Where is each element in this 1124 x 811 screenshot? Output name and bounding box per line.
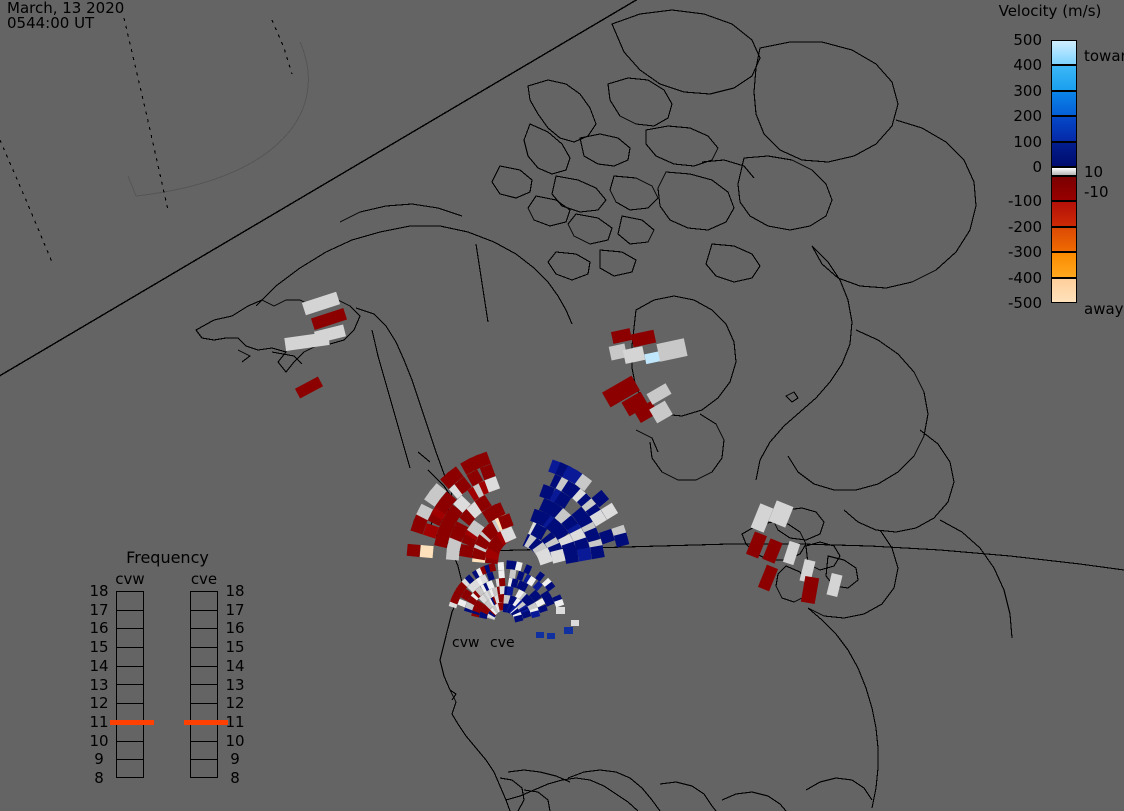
velocity-tick-0: 0 (1032, 158, 1042, 176)
velocity-colorbar (1051, 40, 1077, 310)
frequency-bar-cvw (116, 591, 144, 778)
radar-cell (533, 581, 543, 591)
radar-cell (577, 547, 592, 561)
velocity-tick--100: -100 (1008, 192, 1042, 210)
radar-cell (499, 578, 506, 586)
velocity-band-1 (1051, 65, 1077, 90)
radar-cell (827, 573, 843, 597)
radar-cell (631, 330, 656, 347)
radar-cell (536, 632, 544, 638)
radar-cell (611, 328, 632, 344)
velocity-tick--300: -300 (1008, 243, 1042, 261)
velocity-tick-100: 100 (1013, 133, 1042, 151)
frequency-segment (117, 686, 143, 705)
frequency-legend-title: Frequency (80, 548, 255, 567)
frequency-tick-cve-18: 18 (222, 582, 248, 600)
frequency-tick-cve-8: 8 (222, 769, 248, 787)
velocity-tick-500: 500 (1013, 31, 1042, 49)
radar-cell (758, 565, 778, 592)
frequency-segment (191, 742, 217, 761)
radar-cell (769, 500, 794, 527)
frequency-tick-cve-15: 15 (222, 638, 248, 656)
frequency-marker-cvw (110, 720, 154, 725)
frequency-segment (117, 742, 143, 761)
radar-cell (295, 377, 323, 399)
frequency-segment (117, 611, 143, 630)
frequency-segment (117, 760, 143, 779)
frequency-segment (117, 667, 143, 686)
velocity-minus10-label: -10 (1084, 183, 1109, 201)
frequency-legend: Frequency cvw cve 1818171716161515141413… (80, 545, 255, 785)
frequency-tick-cvw-11: 11 (86, 713, 112, 731)
radar-cell (564, 550, 579, 564)
velocity-tick-400: 400 (1013, 56, 1042, 74)
velocity-band-3 (1051, 116, 1077, 141)
frequency-segment (191, 648, 217, 667)
frequency-marker-cve (184, 720, 228, 725)
frequency-tick-cve-13: 13 (222, 676, 248, 694)
frequency-segment (191, 667, 217, 686)
frequency-segment (117, 723, 143, 742)
frequency-tick-cvw-9: 9 (86, 750, 112, 768)
frequency-tick-cvw-12: 12 (86, 694, 112, 712)
radar-cell (556, 607, 565, 614)
site-label-cvw: cvw (452, 635, 479, 651)
radar-cell (623, 346, 645, 364)
frequency-tick-cvw-16: 16 (86, 619, 112, 637)
frequency-tick-cve-16: 16 (222, 619, 248, 637)
velocity-band-4 (1051, 142, 1077, 167)
frequency-tick-cvw-8: 8 (86, 769, 112, 787)
radar-cell (746, 531, 767, 558)
radar-cell (498, 562, 505, 570)
frequency-tick-cve-14: 14 (222, 657, 248, 675)
velocity-band-7 (1051, 201, 1077, 226)
frequency-segment (191, 592, 217, 611)
radar-cell (783, 541, 800, 565)
velocity-tick-200: 200 (1013, 107, 1042, 125)
velocity-away-label: away (1084, 300, 1124, 318)
frequency-bar-cve (190, 591, 218, 778)
velocity-band-5 (1051, 167, 1077, 176)
frequency-segment (191, 723, 217, 742)
velocity-toward-label: toward (1084, 47, 1124, 65)
radar-cell (535, 571, 545, 581)
frequency-tick-cvw-10: 10 (86, 732, 112, 750)
radar-cell (420, 545, 434, 558)
radar-cell (656, 338, 687, 361)
site-label-cve: cve (490, 635, 515, 651)
frequency-tick-cve-10: 10 (222, 732, 248, 750)
velocity-tick--500: -500 (1008, 294, 1042, 312)
velocity-plus10-label: 10 (1084, 163, 1103, 181)
radar-cell (571, 620, 579, 626)
radar-cell (590, 545, 605, 559)
superdarn-velocity-map: March, 13 20200544:00 UT Velocity (m/s) … (0, 0, 1124, 811)
frequency-segment (117, 592, 143, 611)
timestamp-time: 0544:00 UT (7, 14, 94, 32)
frequency-segment (117, 629, 143, 648)
frequency-tick-cvw-13: 13 (86, 676, 112, 694)
velocity-tick--400: -400 (1008, 269, 1042, 287)
frequency-tick-cvw-18: 18 (86, 582, 112, 600)
frequency-tick-cve-12: 12 (222, 694, 248, 712)
velocity-band-2 (1051, 91, 1077, 116)
timestamp: March, 13 20200544:00 UT (7, 1, 124, 31)
frequency-tick-cvw-17: 17 (86, 601, 112, 619)
velocity-band-10 (1051, 278, 1077, 303)
frequency-segment (191, 760, 217, 779)
velocity-band-6 (1051, 176, 1077, 201)
frequency-segment (191, 629, 217, 648)
radar-cell (498, 570, 505, 578)
velocity-colorbar-ticks: 5004003002001000-100-200-300-400-500 (960, 0, 1046, 330)
radar-cell (564, 627, 573, 634)
frequency-tick-cvw-14: 14 (86, 657, 112, 675)
velocity-band-9 (1051, 252, 1077, 277)
radar-cell (487, 572, 495, 581)
frequency-tick-cvw-15: 15 (86, 638, 112, 656)
velocity-tick-300: 300 (1013, 82, 1042, 100)
frequency-segment (117, 648, 143, 667)
frequency-tick-cve-9: 9 (222, 750, 248, 768)
velocity-tick--200: -200 (1008, 218, 1042, 236)
radar-cell (407, 544, 421, 557)
frequency-segment (191, 686, 217, 705)
radar-cell (516, 571, 524, 581)
radar-cell (547, 633, 555, 639)
velocity-band-0 (1051, 40, 1077, 65)
velocity-band-8 (1051, 227, 1077, 252)
frequency-segment (191, 611, 217, 630)
radar-cell (762, 538, 782, 563)
frequency-tick-cve-17: 17 (222, 601, 248, 619)
radar-cell (509, 569, 516, 578)
